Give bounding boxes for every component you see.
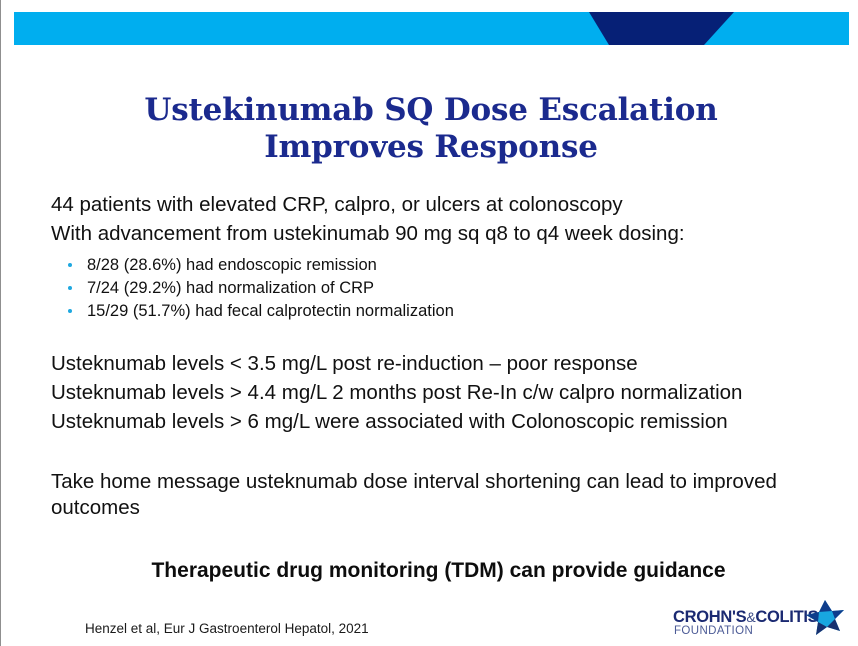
bullet-dot-icon — [68, 286, 72, 290]
header-decorative-band — [14, 12, 849, 45]
level-line-3: Usteknumab levels > 6 mg/L were associat… — [51, 407, 826, 436]
bullet-dot-icon — [68, 263, 72, 267]
logo-name-part1: CROHN'S — [673, 608, 746, 626]
list-item-label: 8/28 (28.6%) had endoscopic remission — [87, 256, 377, 274]
page-title: Ustekinumab SQ Dose Escalation Improves … — [61, 92, 801, 166]
list-item-label: 7/24 (29.2%) had normalization of CRP — [87, 279, 374, 297]
logo-subtitle: FOUNDATION — [674, 625, 753, 637]
bullet-dot-icon — [68, 309, 72, 313]
crohns-colitis-foundation-logo: CROHN'S&COLITIS FOUNDATION — [673, 600, 849, 642]
title-line-2: Improves Response — [61, 129, 801, 166]
list-item-label: 15/29 (51.7%) had fecal calprotectin nor… — [87, 302, 454, 320]
navy-trapezoid-shape — [14, 12, 849, 45]
intro-line-1: 44 patients with elevated CRP, calpro, o… — [51, 190, 826, 219]
list-item: 8/28 (28.6%) had endoscopic remission — [51, 254, 826, 277]
slide-canvas: Ustekinumab SQ Dose Escalation Improves … — [0, 0, 858, 646]
outcomes-bullet-list: 8/28 (28.6%) had endoscopic remission 7/… — [51, 254, 826, 323]
citation-reference: Henzel et al, Eur J Gastroenterol Hepato… — [85, 620, 369, 637]
take-home-message: Take home message usteknumab dose interv… — [51, 469, 811, 521]
slide-body: 44 patients with elevated CRP, calpro, o… — [51, 190, 826, 521]
list-item: 7/24 (29.2%) had normalization of CRP — [51, 277, 826, 300]
drug-level-statements: Usteknumab levels < 3.5 mg/L post re-ind… — [51, 349, 826, 436]
level-line-1: Usteknumab levels < 3.5 mg/L post re-ind… — [51, 349, 826, 378]
tdm-guidance-message: Therapeutic drug monitoring (TDM) can pr… — [51, 558, 826, 584]
intro-line-2: With advancement from ustekinumab 90 mg … — [51, 219, 826, 248]
level-line-2: Usteknumab levels > 4.4 mg/L 2 months po… — [51, 378, 826, 407]
title-line-1: Ustekinumab SQ Dose Escalation — [61, 92, 801, 129]
list-item: 15/29 (51.7%) had fecal calprotectin nor… — [51, 300, 826, 323]
four-point-star-icon — [801, 598, 847, 638]
